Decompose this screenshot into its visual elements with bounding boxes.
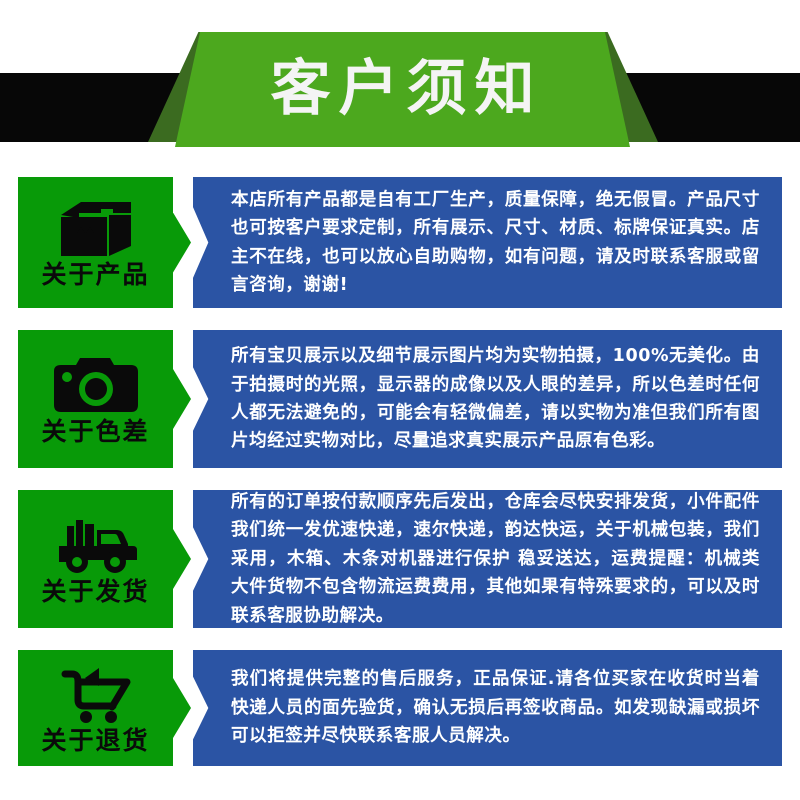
- section-text-panel-product: 本店所有产品都是自有工厂生产，质量保障，绝无假冒。产品尺寸也可按客户要求定制，所…: [193, 177, 782, 308]
- section-label-card-shipping: 关于发货: [18, 490, 173, 628]
- camera-icon: [48, 355, 144, 417]
- page-header-banner: 客户须知: [0, 0, 800, 170]
- section-label-text: 关于产品: [41, 262, 149, 287]
- cardboard-box-this-side-up-icon: [48, 198, 144, 260]
- section-label-text: 关于退货: [41, 728, 149, 753]
- notice-section-color: 关于色差 所有宝贝展示以及细节展示图片均为实物拍摄，100%无美化。由于拍摄时的…: [18, 330, 782, 468]
- section-body-text: 所有宝贝展示以及细节展示图片均为实物拍摄，100%无美化。由于拍摄时的光照，显示…: [231, 342, 760, 455]
- page-title: 客户须知: [263, 59, 543, 121]
- notice-section-list: 关于产品 本店所有产品都是自有工厂生产，质量保障，绝无假冒。产品尺寸也可按客户要…: [0, 170, 800, 766]
- section-label-text: 关于色差: [41, 419, 149, 444]
- ribbon-banner: 客户须知: [175, 32, 630, 147]
- customer-notice-page: 客户须知: [0, 0, 800, 800]
- section-text-panel-shipping: 所有的订单按付款顺序先后发出，仓库会尽快安排发货，小件配件我们统一发优速快递，速…: [193, 490, 782, 628]
- section-label-text: 关于发货: [41, 579, 149, 604]
- section-label-card-color: 关于色差: [18, 330, 173, 468]
- section-body-text: 本店所有产品都是自有工厂生产，质量保障，绝无假冒。产品尺寸也可按客户要求定制，所…: [231, 186, 760, 299]
- forklift-truck-icon: [48, 515, 144, 577]
- section-label-card-return: 关于退货: [18, 650, 173, 766]
- section-text-panel-color: 所有宝贝展示以及细节展示图片均为实物拍摄，100%无美化。由于拍摄时的光照，显示…: [193, 330, 782, 468]
- notice-section-shipping: 关于发货 所有的订单按付款顺序先后发出，仓库会尽快安排发货，小件配件我们统一发优…: [18, 490, 782, 628]
- notice-section-product: 关于产品 本店所有产品都是自有工厂生产，质量保障，绝无假冒。产品尺寸也可按客户要…: [18, 177, 782, 308]
- section-body-text: 所有的订单按付款顺序先后发出，仓库会尽快安排发货，小件配件我们统一发优速快递，速…: [231, 488, 760, 630]
- notice-section-return: 关于退货 我们将提供完整的售后服务，正品保证.请各位买家在收货时当着快递人员的面…: [18, 650, 782, 766]
- section-body-text: 我们将提供完整的售后服务，正品保证.请各位买家在收货时当着快递人员的面先验货，确…: [231, 665, 760, 750]
- section-text-panel-return: 我们将提供完整的售后服务，正品保证.请各位买家在收货时当着快递人员的面先验货，确…: [193, 650, 782, 766]
- section-label-card-product: 关于产品: [18, 177, 173, 308]
- shopping-cart-return-icon: [48, 664, 144, 726]
